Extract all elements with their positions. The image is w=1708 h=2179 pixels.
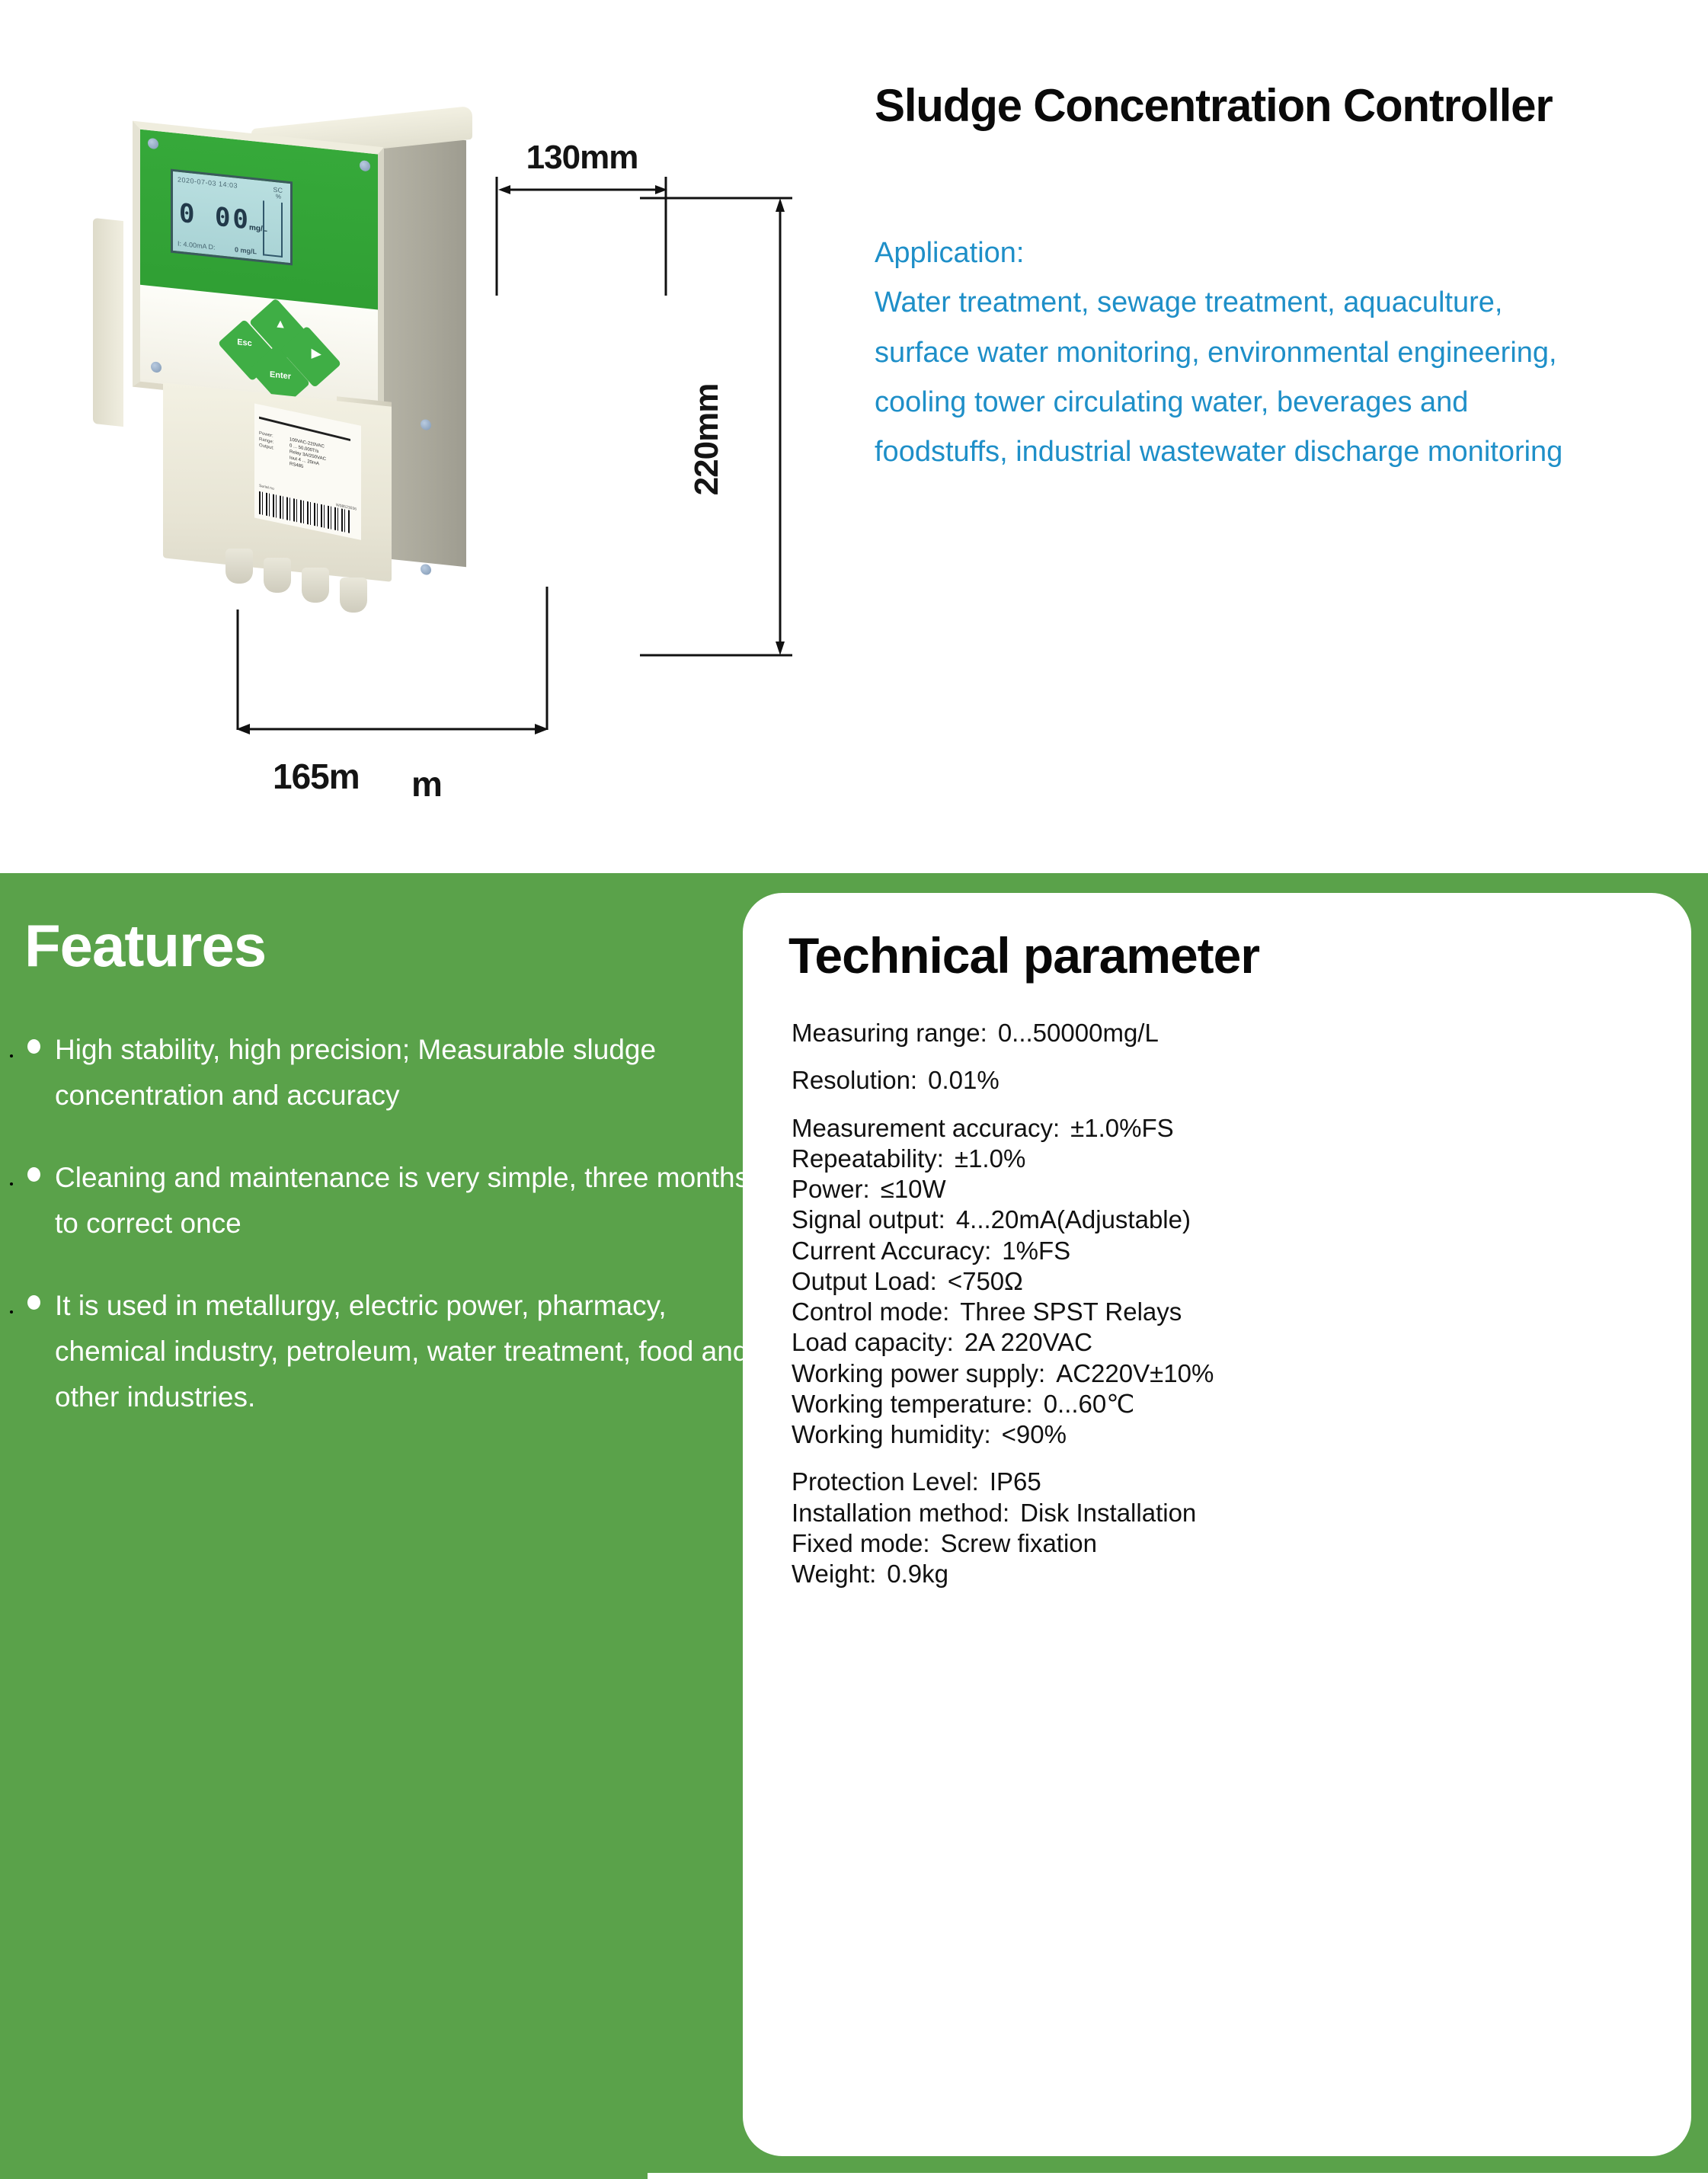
cable-gland-4-icon [340,578,367,613]
table-row: Output Load:<750Ω [792,1266,1652,1297]
bullet-icon [27,1295,40,1310]
table-row: Power:≤10W [792,1174,1652,1205]
param-key: Load capacity: [792,1328,954,1356]
param-key: Installation method: [792,1499,1009,1527]
lcd-footer-right: 0 mg/L [235,245,257,255]
feature-text: High stability, high precision; Measurab… [55,1034,656,1111]
table-row: Working humidity:<90% [792,1419,1652,1450]
param-value: 0.01% [928,1066,1000,1094]
param-key: Protection Level: [792,1467,979,1496]
param-key: Measurement accuracy: [792,1114,1060,1142]
param-key: Control mode: [792,1297,949,1326]
controller-device-illustration: 2020-07-03 14:03 SC 0 00 mg/L % I: 4.00m… [107,91,533,701]
features-title: Features [24,911,266,981]
list-item: It is used in metallurgy, electric power… [21,1283,753,1420]
technical-parameter-list: Measuring range:0...50000mg/L Resolution… [792,1018,1652,1589]
hero-section: 130mm 220mm [0,0,1708,873]
bezel-screw-top-right-icon [360,160,370,171]
table-row: Installation method:Disk Installation [792,1498,1652,1528]
dimension-height-side-label: 220mm [688,280,726,600]
bezel-screw-top-left-icon [148,138,158,149]
param-value: 4...20mA(Adjustable) [956,1205,1191,1233]
param-value: 1%FS [1002,1237,1070,1265]
nameplate-serial-label: Serial no [259,484,274,492]
list-item: Cleaning and maintenance is very simple,… [21,1155,753,1246]
product-figure: 130mm 220mm [107,61,716,770]
param-value: Disk Installation [1020,1499,1196,1527]
features-section: Features High stability, high precision;… [0,873,762,2179]
keypanel-screw-icon [151,361,162,373]
dimension-arrow-bottom-icon [236,724,549,734]
cable-gland-1-icon [225,549,253,584]
param-key: Resolution: [792,1066,917,1094]
param-value: ±1.0% [955,1144,1025,1173]
application-line: foodstuffs, industrial wastewater discha… [875,427,1697,477]
param-value: 0...50000mg/L [998,1019,1159,1047]
table-row: Current Accuracy:1%FS [792,1236,1652,1266]
param-value: AC220V±10% [1056,1359,1214,1387]
table-row: Protection Level:IP65 [792,1467,1652,1497]
technical-parameter-title: Technical parameter [788,926,1259,984]
param-key: Output Load: [792,1267,937,1295]
application-block: Application: Water treatment, sewage tre… [875,229,1697,478]
param-key: Weight: [792,1560,876,1588]
dimension-height-side: 220mm [686,198,838,686]
extension-line-br-icon [545,587,549,731]
table-row: Working power supply:AC220V±10% [792,1358,1652,1389]
device-left-hinge-tab [93,218,123,427]
table-row: Fixed mode:Screw fixation [792,1528,1652,1559]
table-row: Control mode:Three SPST Relays [792,1297,1652,1327]
feature-text: It is used in metallurgy, electric power… [55,1290,748,1413]
lcd-bargraph-icon [263,200,283,258]
application-label: Application: [875,229,1697,278]
table-row: Weight:0.9kg [792,1559,1652,1589]
param-key: Measuring range: [792,1019,987,1047]
features-list: High stability, high precision; Measurab… [21,1027,753,1457]
param-value: IP65 [990,1467,1041,1496]
param-value: Three SPST Relays [960,1297,1182,1326]
nameplate-rows: Power:100VAC-220VAC Range:0 ... 50,000T/… [259,430,326,475]
param-value: Screw fixation [941,1529,1097,1557]
feature-text: Cleaning and maintenance is very simple,… [55,1162,749,1239]
param-key: Current Accuracy: [792,1237,991,1265]
param-value: ±1.0%FS [1070,1114,1174,1142]
param-value: 0.9kg [887,1560,948,1588]
param-value: <750Ω [948,1267,1023,1295]
dimension-width-bottom-label-a: 165m [273,756,360,797]
param-value: 2A 220VAC [964,1328,1092,1356]
extension-line-top-icon [640,195,792,201]
lcd-bargraph-label: % [276,193,281,200]
param-value: ≤10W [881,1175,946,1203]
table-row: Measurement accuracy:±1.0%FS [792,1113,1652,1144]
application-line: surface water monitoring, environmental … [875,328,1697,378]
body-screw-bottom-icon [421,564,431,575]
technical-parameter-card: Technical parameter Measuring range:0...… [743,893,1691,2156]
nameplate-barcode-icon [259,491,350,533]
dimension-width-bottom: 165m m [236,724,549,808]
lcd-footer-left: I: 4.00mA D: [178,240,216,251]
table-row: Load capacity:2A 220VAC [792,1327,1652,1358]
param-value: <90% [1002,1420,1067,1448]
bottom-edge-strip [648,2173,1708,2179]
table-row: Working temperature:0...60℃ [792,1389,1652,1419]
param-key: Working humidity: [792,1420,991,1448]
param-key: Working temperature: [792,1390,1033,1418]
application-line: Water treatment, sewage treatment, aquac… [875,278,1697,328]
device-keypad: ▲ Esc ▶ Enter [222,307,337,400]
param-key: Fixed mode: [792,1529,930,1557]
table-row: Signal output:4...20mA(Adjustable) [792,1205,1652,1235]
param-value: 0...60℃ [1044,1390,1135,1418]
cable-gland-2-icon [264,558,291,593]
extension-line-right-icon [664,143,667,296]
dimension-width-bottom-label-b: m [411,763,442,805]
product-datasheet-page: 130mm 220mm [0,0,1708,2179]
table-row: Measuring range:0...50000mg/L [792,1018,1652,1048]
dimension-arrow-vertical-icon [776,198,785,655]
param-key: Power: [792,1175,870,1203]
device-lcd-screen: 2020-07-03 14:03 SC 0 00 mg/L % I: 4.00m… [171,169,293,266]
table-row: Resolution:0.01% [792,1065,1652,1096]
application-line: cooling tower circulating water, beverag… [875,378,1697,427]
param-key: Signal output: [792,1205,945,1233]
device-lower-body: Power:100VAC-220VAC Range:0 ... 50,000T/… [163,382,392,582]
param-key: Working power supply: [792,1359,1045,1387]
cable-gland-3-icon [302,568,329,603]
table-row: Repeatability:±1.0% [792,1144,1652,1174]
param-key: Repeatability: [792,1144,944,1173]
extension-line-bottom-icon [640,652,792,658]
lcd-main-value: 0 00 [179,198,251,236]
bullet-icon [27,1167,40,1182]
bullet-icon [27,1039,40,1054]
lcd-header-datetime: 2020-07-03 14:03 [178,176,238,190]
device-nameplate-label: Power:100VAC-220VAC Range:0 ... 50,000T/… [254,403,361,539]
list-item: High stability, high precision; Measurab… [21,1027,753,1118]
page-title: Sludge Concentration Controller [875,79,1682,132]
